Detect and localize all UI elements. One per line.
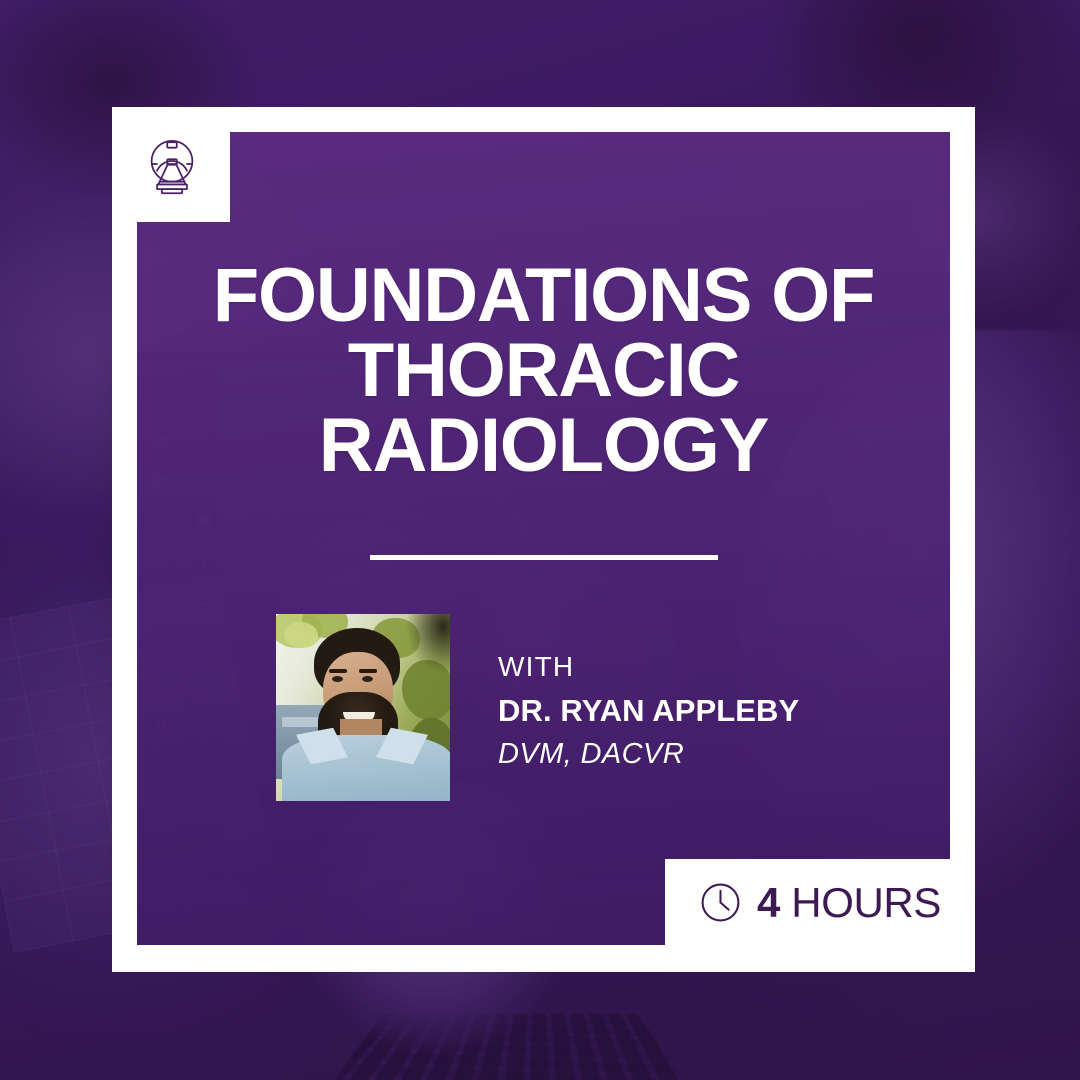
title-line-2: THORACIC [348,328,739,413]
ct-scanner-icon [138,130,206,198]
title-line-1: FOUNDATIONS OF [213,253,875,338]
frame-bottom-edge [112,945,975,972]
page-title: FOUNDATIONS OF THORACIC RADIOLOGY [137,258,950,484]
frame-top-edge [112,107,975,132]
presenter-credentials: DVM, DACVR [498,735,799,774]
presenter-text-block: WITH DR. RYAN APPLEBY DVM, DACVR [498,648,799,774]
duration-badge: 4 HOURS [665,860,975,945]
presenter-block: WITH DR. RYAN APPLEBY DVM, DACVR [276,614,876,814]
duration-text: 4 HOURS [757,882,941,924]
duration-unit: HOURS [791,879,941,926]
presenter-with-label: WITH [498,648,799,686]
frame-left-edge [112,107,137,972]
title-divider-rule [370,555,718,560]
card-content: FOUNDATIONS OF THORACIC RADIOLOGY [137,132,950,947]
title-line-3: RADIOLOGY [319,403,768,488]
presenter-avatar [276,614,450,801]
frame-right-edge [950,107,975,972]
clock-icon [699,881,742,924]
duration-number: 4 [757,879,780,926]
presenter-name: DR. RYAN APPLEBY [498,690,799,733]
